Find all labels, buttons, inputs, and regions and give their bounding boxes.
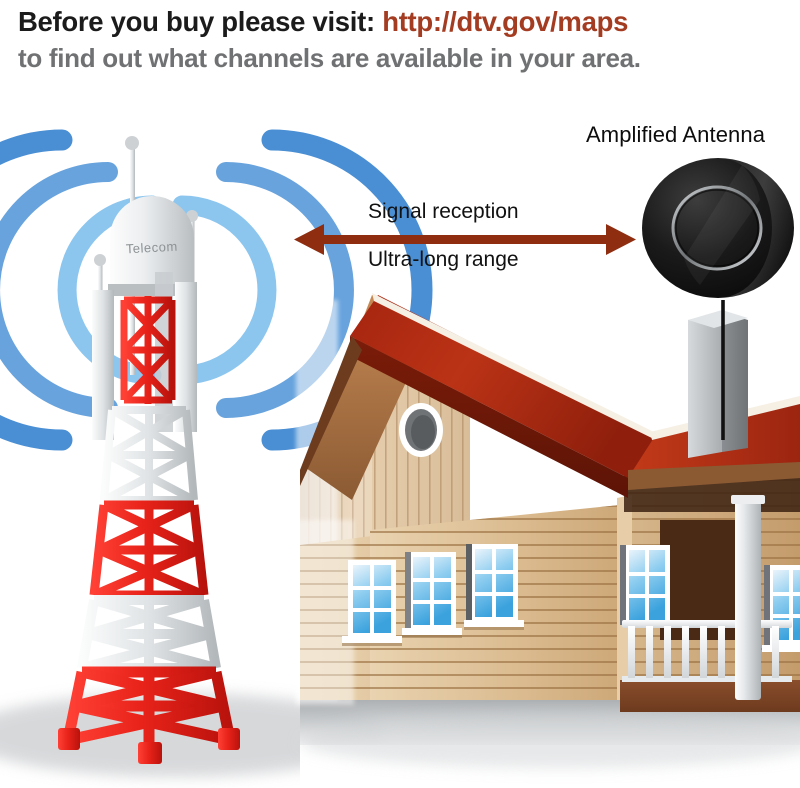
porch-column [731,495,765,700]
ground-shadow [0,690,800,787]
tower-truss-upper-red [124,296,172,404]
signal-waves-right [182,140,422,440]
tower-truss-white-1 [104,406,194,504]
window-group-front [342,544,524,646]
illustration-svg: Telecom [0,0,800,788]
house [296,293,800,712]
window [342,560,402,646]
window [464,544,524,630]
tower-brand-text: Telecom [125,239,178,257]
whip-antennas [94,136,198,382]
headline-line-2: to find out what channels are available … [18,42,788,76]
window [762,565,800,652]
amplified-antenna-label: Amplified Antenna [586,122,765,148]
tower-truss-base-red [68,668,230,752]
headline-lead-text: Before you buy please visit: [18,6,375,37]
chimney [688,310,748,458]
tower-truss-red-2 [94,501,204,599]
telecom-tower: Telecom [58,136,240,764]
window [620,545,670,625]
round-attic-vent [399,403,443,457]
dtv-maps-url[interactable]: http://dtv.gov/maps [382,6,628,37]
signal-waves-left [0,140,152,440]
headline-line-1: Before you buy please visit: http://dtv.… [18,4,788,40]
porch-railing [622,620,792,682]
tower-column-left [92,290,114,440]
amplified-antenna-device[interactable] [642,158,794,298]
tower-dome-housing: Telecom [108,196,196,296]
window [402,552,462,638]
infographic-scene: Before you buy please visit: http://dtv.… [0,0,800,788]
tower-feet [58,728,240,764]
ultra-long-range-label: Ultra-long range [368,248,519,272]
tower-truss-white-2 [82,596,216,672]
tower-column-right [175,282,197,432]
signal-reception-label: Signal reception [368,200,519,224]
window-group-porch [620,545,800,652]
headline-block: Before you buy please visit: http://dtv.… [18,4,788,76]
